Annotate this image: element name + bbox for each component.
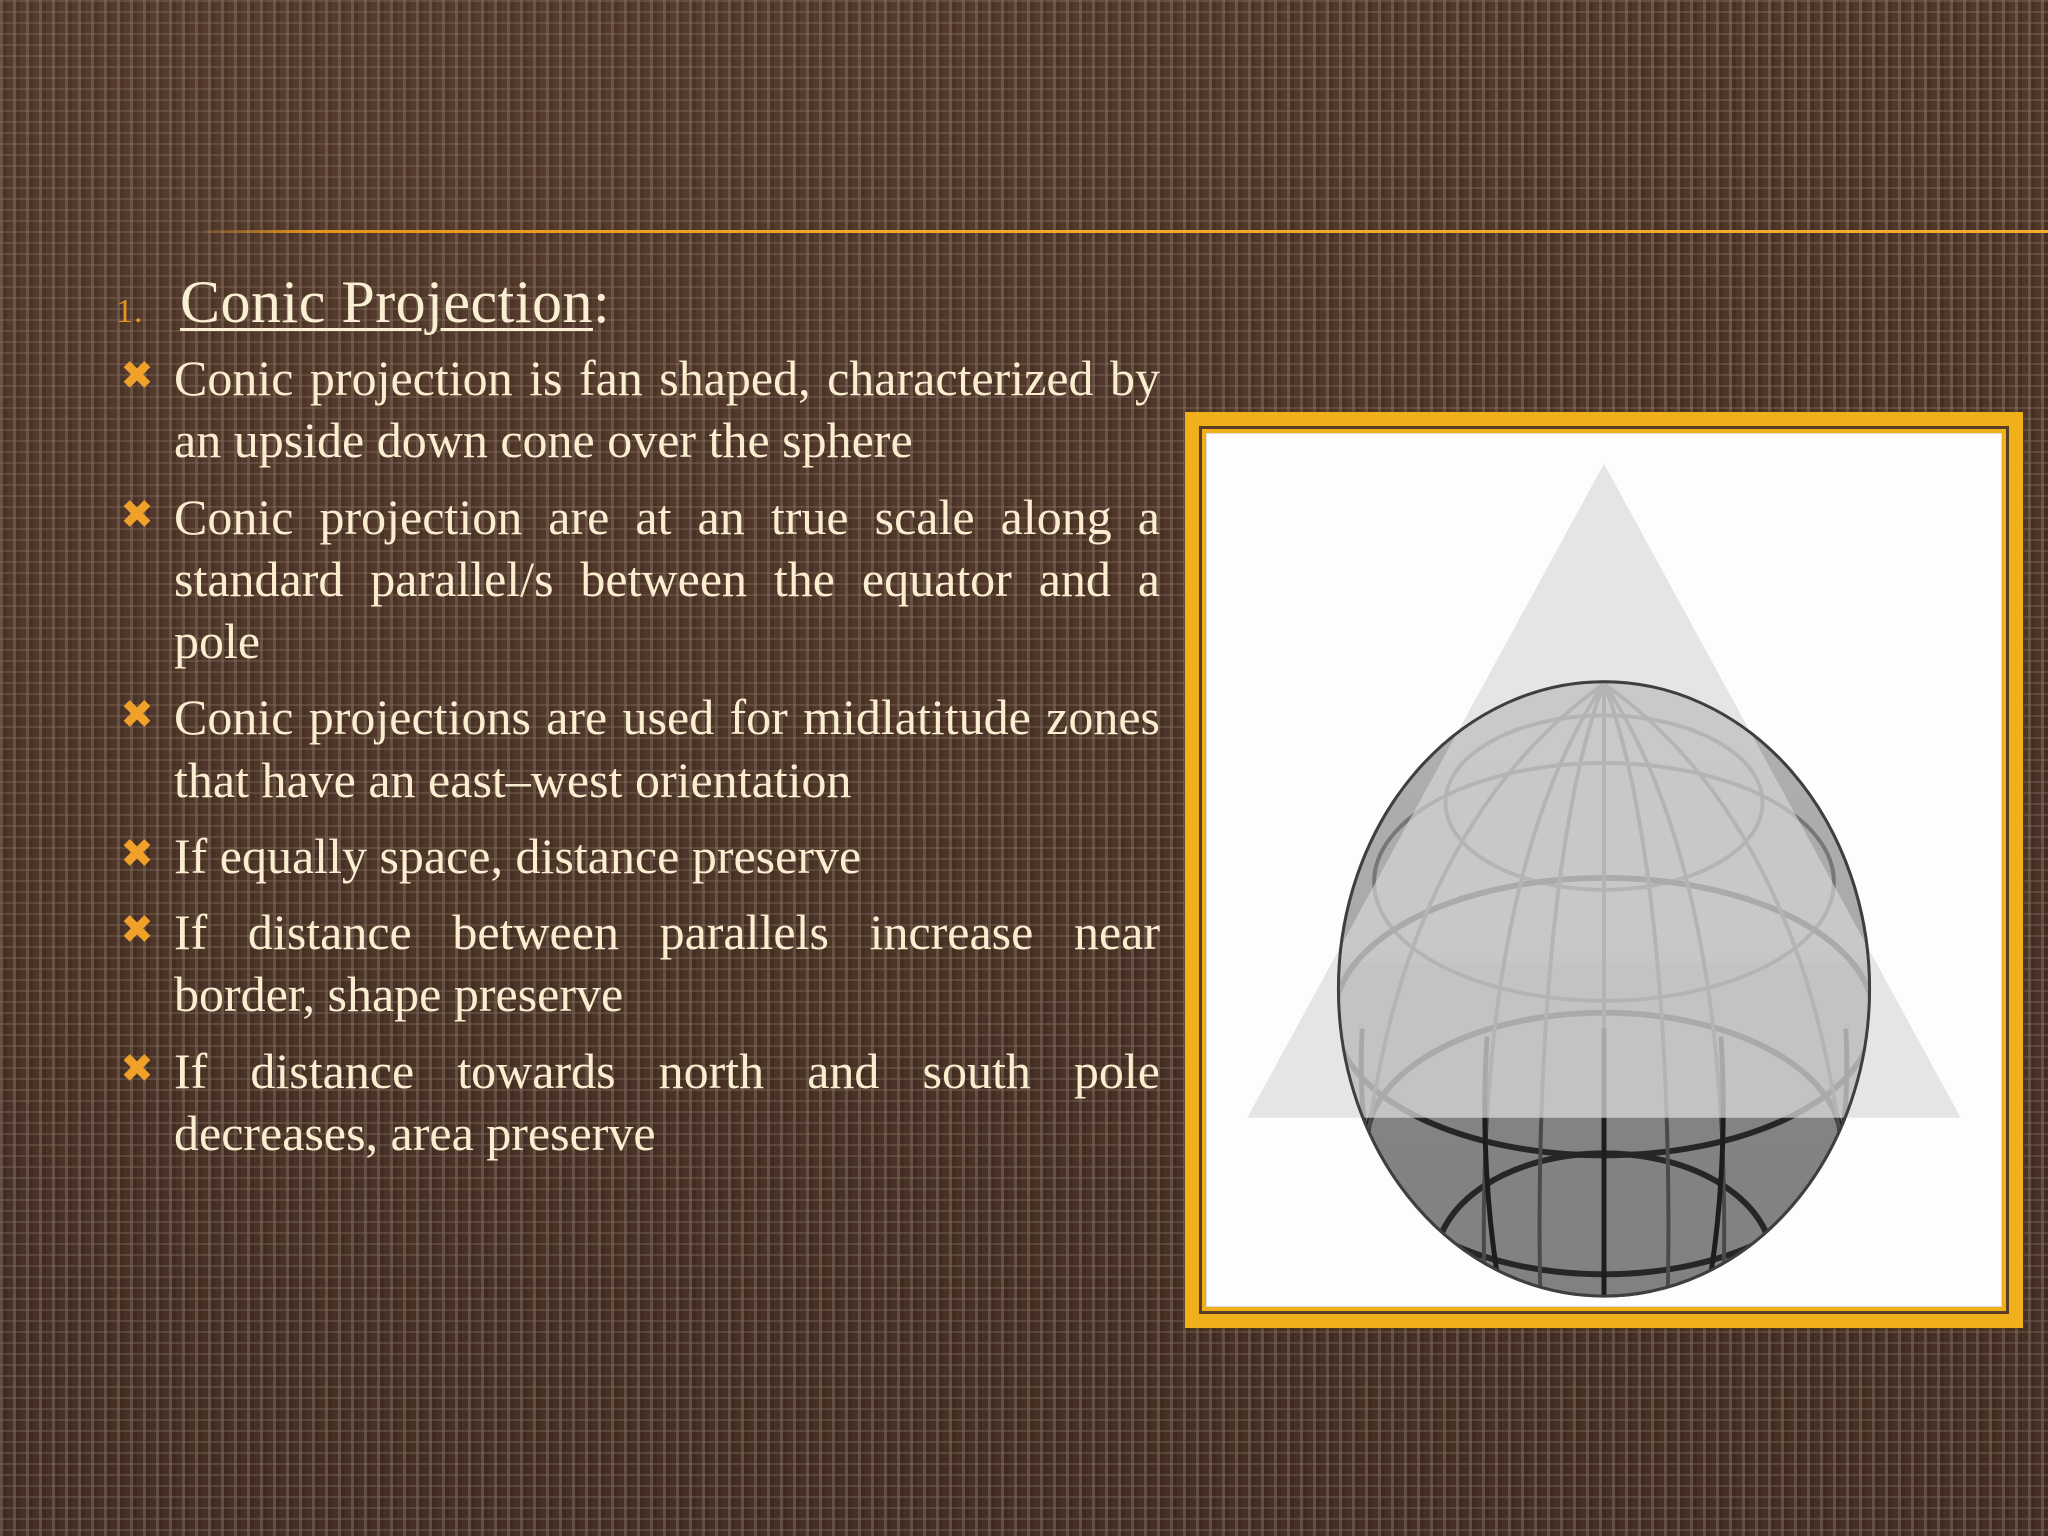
cross-bullet-icon: ✖ — [100, 825, 174, 880]
list-item-text: Conic projection are at an true scale al… — [174, 486, 1160, 673]
list-item-text: If equally space, distance preserve — [174, 825, 1160, 887]
list-item: ✖ Conic projections are used for midlati… — [100, 686, 1160, 811]
list-item: ✖ If distance towards north and south po… — [100, 1040, 1160, 1165]
list-item-text: Conic projections are used for midlatitu… — [174, 686, 1160, 811]
list-item: ✖ Conic projection is fan shaped, charac… — [100, 347, 1160, 472]
title-divider-rule — [205, 230, 2048, 233]
title-number: 1. — [100, 293, 180, 331]
title-suffix: : — [593, 269, 610, 335]
conic-projection-svg — [1207, 434, 2001, 1306]
title-underlined-text: Conic Projection — [180, 269, 593, 335]
cross-bullet-icon: ✖ — [100, 901, 174, 956]
list-item-text: If distance between parallels increase n… — [174, 901, 1160, 1026]
page-title: Conic Projection: — [180, 268, 610, 337]
conic-projection-figure — [1206, 433, 2002, 1307]
cross-bullet-icon: ✖ — [100, 686, 174, 741]
list-item-text: Conic projection is fan shaped, characte… — [174, 347, 1160, 472]
list-item: ✖ Conic projection are at an true scale … — [100, 486, 1160, 673]
slide-title: 1. Conic Projection: — [100, 268, 1160, 337]
list-item: ✖ If distance between parallels increase… — [100, 901, 1160, 1026]
figure-frame-inner-line — [1199, 426, 2009, 1314]
list-item: ✖ If equally space, distance preserve — [100, 825, 1160, 887]
cross-bullet-icon: ✖ — [100, 486, 174, 541]
figure-frame — [1185, 412, 2023, 1328]
slide-canvas: 1. Conic Projection: ✖ Conic projection … — [0, 0, 2048, 1536]
cross-bullet-icon: ✖ — [100, 347, 174, 402]
list-item-text: If distance towards north and south pole… — [174, 1040, 1160, 1165]
content-column: 1. Conic Projection: ✖ Conic projection … — [100, 268, 1160, 1178]
cross-bullet-icon: ✖ — [100, 1040, 174, 1095]
